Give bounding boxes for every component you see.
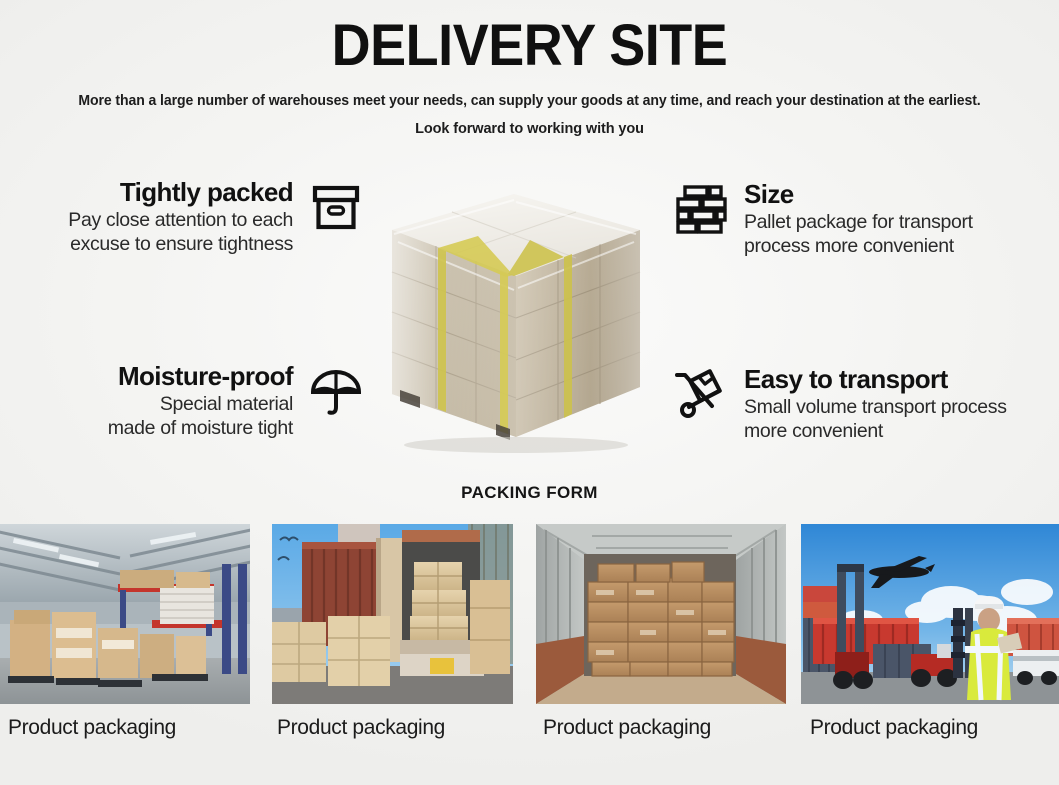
gallery-item[interactable] xyxy=(272,524,513,704)
subtitle-line-1: More than a large number of warehouses m… xyxy=(16,93,1043,109)
gallery-item[interactable] xyxy=(801,524,1059,704)
container-interior-photo xyxy=(536,524,786,704)
feature-easy-transport: Easy to transport Small volume transport… xyxy=(672,365,1059,444)
gallery-captions: Product packaging Product packaging Prod… xyxy=(0,716,1059,756)
archive-box-icon xyxy=(307,178,365,236)
feature-text-group: Size Pallet package for transport proces… xyxy=(744,180,973,259)
logistics-yard-photo xyxy=(801,524,1059,704)
gallery-item[interactable] xyxy=(536,524,786,704)
brick-wall-icon xyxy=(672,180,730,238)
feature-description: Pallet package for transport process mor… xyxy=(744,211,973,259)
header: DELIVERY SITE More than a large number o… xyxy=(0,0,1059,137)
feature-text-group: Tightly packed Pay close attention to ea… xyxy=(68,178,293,257)
feature-title: Easy to transport xyxy=(744,365,948,394)
packing-form-heading: PACKING FORM xyxy=(0,483,1059,503)
warehouse-pallets-photo xyxy=(0,524,250,704)
feature-text-group: Easy to transport Small volume transport… xyxy=(744,365,1007,444)
feature-title: Size xyxy=(744,180,794,209)
feature-moisture-proof: Moisture-proof Special material made of … xyxy=(0,362,365,441)
feature-text-group: Moisture-proof Special material made of … xyxy=(108,362,293,441)
gallery-caption: Product packaging xyxy=(543,716,711,740)
feature-description: Special material made of moisture tight xyxy=(108,393,293,441)
gallery-caption: Product packaging xyxy=(8,716,176,740)
feature-tightly-packed: Tightly packed Pay close attention to ea… xyxy=(0,178,365,257)
gallery-caption: Product packaging xyxy=(277,716,445,740)
gallery xyxy=(0,524,1059,704)
gallery-item[interactable] xyxy=(0,524,250,704)
subtitle-line-2: Look forward to working with you xyxy=(0,121,1059,137)
hand-truck-icon xyxy=(672,365,730,423)
container-loading-photo xyxy=(272,524,513,704)
gallery-caption: Product packaging xyxy=(810,716,978,740)
pallet-image xyxy=(378,172,650,457)
page-title: DELIVERY SITE xyxy=(37,16,1022,77)
feature-title: Moisture-proof xyxy=(118,362,293,391)
feature-size: Size Pallet package for transport proces… xyxy=(672,180,1059,259)
feature-description: Pay close attention to each excuse to en… xyxy=(68,209,293,257)
feature-title: Tightly packed xyxy=(120,178,293,207)
umbrella-icon xyxy=(307,362,365,420)
delivery-site-page: DELIVERY SITE More than a large number o… xyxy=(0,0,1059,785)
feature-description: Small volume transport process more conv… xyxy=(744,396,1007,444)
